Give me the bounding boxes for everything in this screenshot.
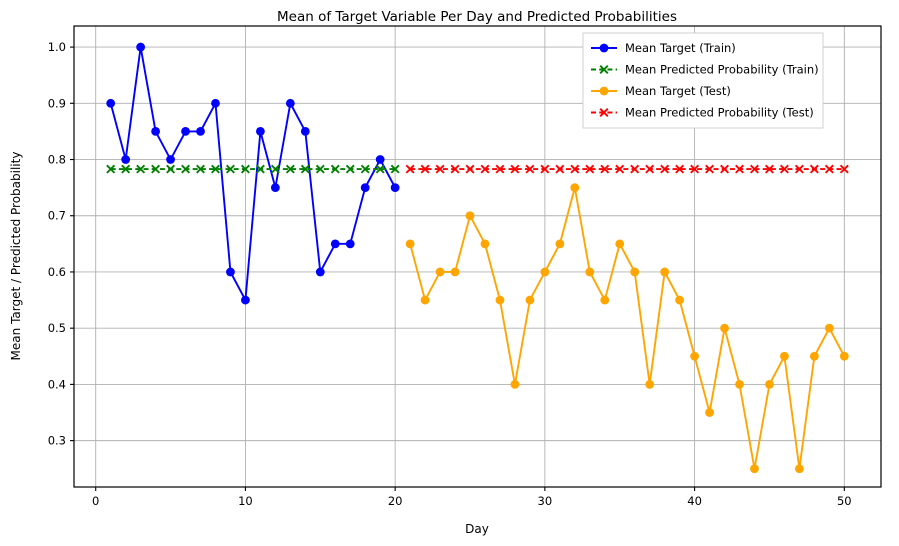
x-tick-label: 10 [238, 494, 253, 508]
y-tick-label: 0.8 [48, 153, 66, 167]
legend-label[interactable]: Mean Target (Test) [625, 84, 731, 98]
data-point [421, 296, 430, 305]
data-point [526, 296, 535, 305]
data-point [496, 296, 505, 305]
data-point [346, 239, 355, 248]
y-tick-label: 0.3 [48, 434, 66, 448]
x-tick-label: 0 [92, 494, 99, 508]
data-point [361, 183, 370, 192]
data-point [840, 352, 849, 361]
y-tick-label: 0.4 [48, 377, 66, 391]
data-point [765, 380, 774, 389]
data-point [585, 268, 594, 277]
legend-swatch-marker [600, 87, 609, 96]
chart-figure: Mean of Target Variable Per Day and Pred… [0, 0, 899, 546]
legend-label[interactable]: Mean Target (Train) [625, 41, 736, 55]
data-point [316, 268, 325, 277]
x-tick-label: 50 [837, 494, 852, 508]
data-point [780, 352, 789, 361]
data-point [660, 268, 669, 277]
y-tick-label: 0.5 [48, 321, 66, 335]
data-point [406, 239, 415, 248]
data-point [196, 127, 205, 136]
data-point [555, 239, 564, 248]
data-point [540, 268, 549, 277]
data-point [166, 155, 175, 164]
x-tick-label: 20 [388, 494, 403, 508]
data-point [376, 155, 385, 164]
y-tick-label: 0.7 [48, 209, 66, 223]
data-point [735, 380, 744, 389]
data-point [795, 464, 804, 473]
data-point [301, 127, 310, 136]
y-tick-label: 0.6 [48, 265, 66, 279]
data-point [615, 239, 624, 248]
data-point [436, 268, 445, 277]
data-point [151, 127, 160, 136]
y-tick-label: 0.9 [48, 96, 66, 110]
data-point [705, 408, 714, 417]
data-point [121, 155, 130, 164]
data-point [451, 268, 460, 277]
data-point [570, 183, 579, 192]
data-point [211, 99, 220, 108]
data-point [645, 380, 654, 389]
legend-label[interactable]: Mean Predicted Probability (Test) [625, 106, 814, 120]
legend-label[interactable]: Mean Predicted Probability (Train) [625, 63, 819, 77]
data-point [466, 211, 475, 220]
data-point [181, 127, 190, 136]
data-point [286, 99, 295, 108]
x-tick-label: 40 [687, 494, 702, 508]
data-point [481, 239, 490, 248]
chart-canvas: Mean of Target Variable Per Day and Pred… [0, 0, 899, 546]
data-point [630, 268, 639, 277]
data-point [690, 352, 699, 361]
data-point [511, 380, 520, 389]
y-tick-label: 1.0 [48, 40, 66, 54]
data-point [810, 352, 819, 361]
data-point [241, 296, 250, 305]
data-point [750, 464, 759, 473]
y-axis-label: Mean Target / Predicted Probability [9, 152, 23, 361]
chart-legend[interactable]: Mean Target (Train)Mean Predicted Probab… [583, 33, 823, 128]
data-point [271, 183, 280, 192]
data-point [331, 239, 340, 248]
x-tick-label: 30 [538, 494, 553, 508]
data-point [106, 99, 115, 108]
x-axis-label: Day [465, 522, 489, 536]
data-point [720, 324, 729, 333]
data-point [600, 296, 609, 305]
data-point [136, 43, 145, 52]
data-point [226, 268, 235, 277]
data-point [256, 127, 265, 136]
chart-title: Mean of Target Variable Per Day and Pred… [277, 9, 677, 25]
data-point [391, 183, 400, 192]
legend-swatch-marker [600, 44, 609, 53]
data-point [675, 296, 684, 305]
data-point [825, 324, 834, 333]
